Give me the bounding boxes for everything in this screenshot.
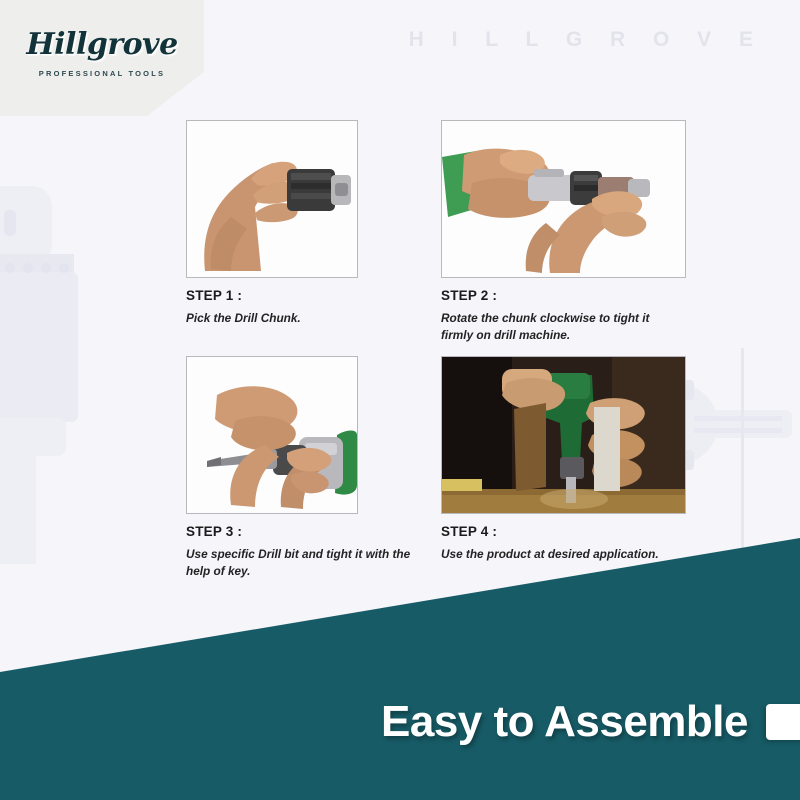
- banner-title: Easy to Assemble: [381, 697, 748, 747]
- step-photo-4: [441, 356, 686, 514]
- steps-grid: STEP 1 : Pick the Drill Chunk.: [186, 120, 686, 580]
- step-heading-2: STEP 2 :: [441, 288, 686, 303]
- step-card-2: STEP 2 : Rotate the chunk clockwise to t…: [441, 120, 686, 344]
- step-body-2: Rotate the chunk clockwise to tight it f…: [441, 310, 679, 344]
- brand-logo: Hillgrove PROFESSIONAL TOOLS: [0, 0, 204, 116]
- step-card-3: STEP 3 : Use specific Drill bit and tigh…: [186, 356, 431, 580]
- drill-chuck-watermark-icon: [0, 168, 98, 568]
- step-photo-2: [441, 120, 686, 278]
- step-photo-3: [186, 356, 358, 514]
- logo-tagline: PROFESSIONAL TOOLS: [39, 69, 165, 78]
- watermark-vertical-rule: [741, 348, 744, 558]
- step-body-4: Use the product at desired application.: [441, 546, 679, 563]
- banner-accent-block: [766, 704, 800, 740]
- step-heading-1: STEP 1 :: [186, 288, 431, 303]
- step-photo-1: [186, 120, 358, 278]
- step-body-3: Use specific Drill bit and tight it with…: [186, 546, 424, 580]
- background-wordmark: H I L L G R O V E: [409, 28, 764, 52]
- step-heading-4: STEP 4 :: [441, 524, 686, 539]
- step-heading-3: STEP 3 :: [186, 524, 431, 539]
- bottom-banner: Easy to Assemble: [0, 650, 800, 800]
- step-body-1: Pick the Drill Chunk.: [186, 310, 424, 327]
- logo-wordmark: Hillgrove: [26, 30, 177, 60]
- product-infographic: Hillgrove PROFESSIONAL TOOLS H I L L G R…: [0, 0, 800, 800]
- step-card-4: STEP 4 : Use the product at desired appl…: [441, 356, 686, 580]
- step-card-1: STEP 1 : Pick the Drill Chunk.: [186, 120, 431, 344]
